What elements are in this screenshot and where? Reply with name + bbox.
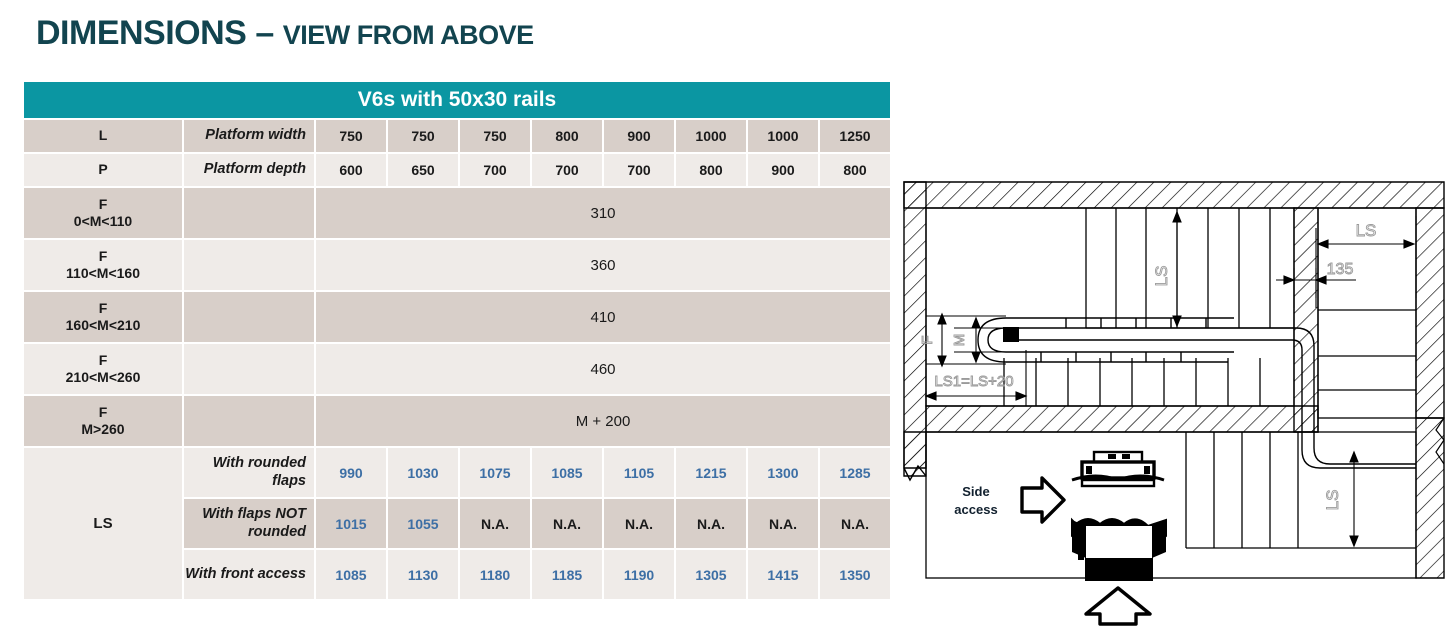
dimensions-table-wrapper: V6s with 50x30 rails L Platform width 75…: [22, 80, 887, 601]
cell-p-3: 700: [460, 154, 530, 186]
row-desc-flaps-not-rounded: With flaps NOT rounded: [184, 499, 314, 548]
table-row: F M>260 M + 200: [24, 396, 890, 446]
row-code-f-3: F 160<M<210: [24, 292, 182, 342]
cell-ls2-5: N.A.: [604, 499, 674, 548]
cell-f-3-value: 410: [316, 292, 890, 342]
cell-ls2-4: N.A.: [532, 499, 602, 548]
side-access-label-line1: Side: [962, 484, 989, 499]
cell-p-1: 600: [316, 154, 386, 186]
cell-ls1-4: 1085: [532, 448, 602, 497]
side-access-label-line2: access: [954, 502, 997, 517]
cell-l-2: 750: [388, 120, 458, 152]
cell-l-7: 1000: [748, 120, 818, 152]
page-title-dash: –: [255, 14, 273, 52]
dimension-label-ls-vertical-right: LS: [1323, 490, 1342, 511]
row-code-p: P: [24, 154, 182, 186]
technical-drawing-view-from-above: LS 135 LS LS F M: [896, 168, 1452, 634]
table-row: F 160<M<210 410: [24, 292, 890, 342]
dimensions-table: V6s with 50x30 rails L Platform width 75…: [22, 80, 892, 601]
table-row: F 210<M<260 460: [24, 344, 890, 394]
cell-ls1-7: 1300: [748, 448, 818, 497]
row-desc-front-access: With front access: [184, 550, 314, 599]
f-condition: M>260: [24, 421, 182, 439]
row-desc-rounded-flaps: With rounded flaps: [184, 448, 314, 497]
cell-f-1-value: 310: [316, 188, 890, 238]
f-code: F: [24, 404, 182, 422]
row-code-f-5: F M>260: [24, 396, 182, 446]
platform-top-view-icon: [1072, 452, 1164, 486]
spacer-cell: [184, 344, 314, 394]
f-condition: 210<M<260: [24, 369, 182, 387]
cell-ls1-5: 1105: [604, 448, 674, 497]
dimension-ls-vertical-right: [1350, 452, 1358, 546]
dimension-label-m: M: [951, 334, 968, 347]
dimension-label-f: F: [919, 335, 936, 344]
cell-ls3-2: 1130: [388, 550, 458, 599]
page-title: DIMENSIONS – VIEW FROM ABOVE: [36, 14, 534, 53]
f-code: F: [24, 352, 182, 370]
dimension-label-ls-top-right: LS: [1356, 221, 1377, 240]
cell-ls1-6: 1215: [676, 448, 746, 497]
cell-ls2-8: N.A.: [820, 499, 890, 548]
seat-icon: [1072, 519, 1166, 580]
cell-l-5: 900: [604, 120, 674, 152]
row-code-ls: LS: [24, 448, 182, 599]
spacer-cell: [184, 188, 314, 238]
cell-ls1-2: 1030: [388, 448, 458, 497]
cell-ls2-2: 1055: [388, 499, 458, 548]
f-condition: 0<M<110: [24, 213, 182, 231]
cell-ls1-3: 1075: [460, 448, 530, 497]
cell-f-4-value: 460: [316, 344, 890, 394]
cell-p-8: 800: [820, 154, 890, 186]
cell-ls3-3: 1180: [460, 550, 530, 599]
cell-l-8: 1250: [820, 120, 890, 152]
cell-l-6: 1000: [676, 120, 746, 152]
row-code-l: L: [24, 120, 182, 152]
cell-ls3-4: 1185: [532, 550, 602, 599]
spacer-cell: [184, 240, 314, 290]
cell-ls1-8: 1285: [820, 448, 890, 497]
cell-p-4: 700: [532, 154, 602, 186]
table-header-title: V6s with 50x30 rails: [24, 82, 890, 118]
f-code: F: [24, 300, 182, 318]
cell-p-5: 700: [604, 154, 674, 186]
cell-ls2-1: 1015: [316, 499, 386, 548]
table-row: F 0<M<110 310: [24, 188, 890, 238]
dimension-label-135: 135: [1327, 261, 1354, 278]
cell-ls3-6: 1305: [676, 550, 746, 599]
cell-ls3-7: 1415: [748, 550, 818, 599]
rail-track: [978, 318, 1416, 468]
cell-ls2-3: N.A.: [460, 499, 530, 548]
f-condition: 110<M<160: [24, 265, 182, 283]
table-header-row: V6s with 50x30 rails: [24, 82, 890, 118]
spacer-cell: [184, 396, 314, 446]
cell-p-2: 650: [388, 154, 458, 186]
cell-ls3-1: 1085: [316, 550, 386, 599]
row-code-f-2: F 110<M<160: [24, 240, 182, 290]
cell-l-3: 750: [460, 120, 530, 152]
spacer-cell: [184, 292, 314, 342]
f-code: F: [24, 248, 182, 266]
dimension-label-ls-vertical-mid: LS: [1152, 266, 1171, 287]
cell-l-4: 800: [532, 120, 602, 152]
table-row: L Platform width 750 750 750 800 900 100…: [24, 120, 890, 152]
cell-ls1-1: 990: [316, 448, 386, 497]
carriage-block: [1003, 327, 1019, 342]
cell-ls2-7: N.A.: [748, 499, 818, 548]
cell-l-1: 750: [316, 120, 386, 152]
cell-f-5-value: M + 200: [316, 396, 890, 446]
row-code-f-1: F 0<M<110: [24, 188, 182, 238]
cell-ls3-5: 1190: [604, 550, 674, 599]
table-row: LS With rounded flaps 990 1030 1075 1085…: [24, 448, 890, 497]
f-code: F: [24, 196, 182, 214]
lower-stair-flight: [1004, 358, 1260, 406]
row-code-f-4: F 210<M<260: [24, 344, 182, 394]
dimension-label-ls1: LS1=LS+20: [934, 373, 1013, 390]
row-desc-platform-width: Platform width: [184, 120, 314, 152]
page-title-main: DIMENSIONS: [36, 14, 246, 52]
side-access-arrow-icon: [1022, 478, 1064, 522]
page-title-sub: VIEW FROM ABOVE: [283, 20, 534, 50]
cell-ls3-8: 1350: [820, 550, 890, 599]
row-desc-platform-depth: Platform depth: [184, 154, 314, 186]
cell-p-6: 800: [676, 154, 746, 186]
cell-f-2-value: 360: [316, 240, 890, 290]
dimension-ls-vertical-mid: [1173, 212, 1181, 326]
bottom-landing: [926, 432, 1416, 578]
front-access-arrow-icon: [1086, 588, 1150, 624]
cell-p-7: 900: [748, 154, 818, 186]
f-condition: 160<M<210: [24, 317, 182, 335]
table-row: F 110<M<160 360: [24, 240, 890, 290]
table-row: P Platform depth 600 650 700 700 700 800…: [24, 154, 890, 186]
cell-ls2-6: N.A.: [676, 499, 746, 548]
